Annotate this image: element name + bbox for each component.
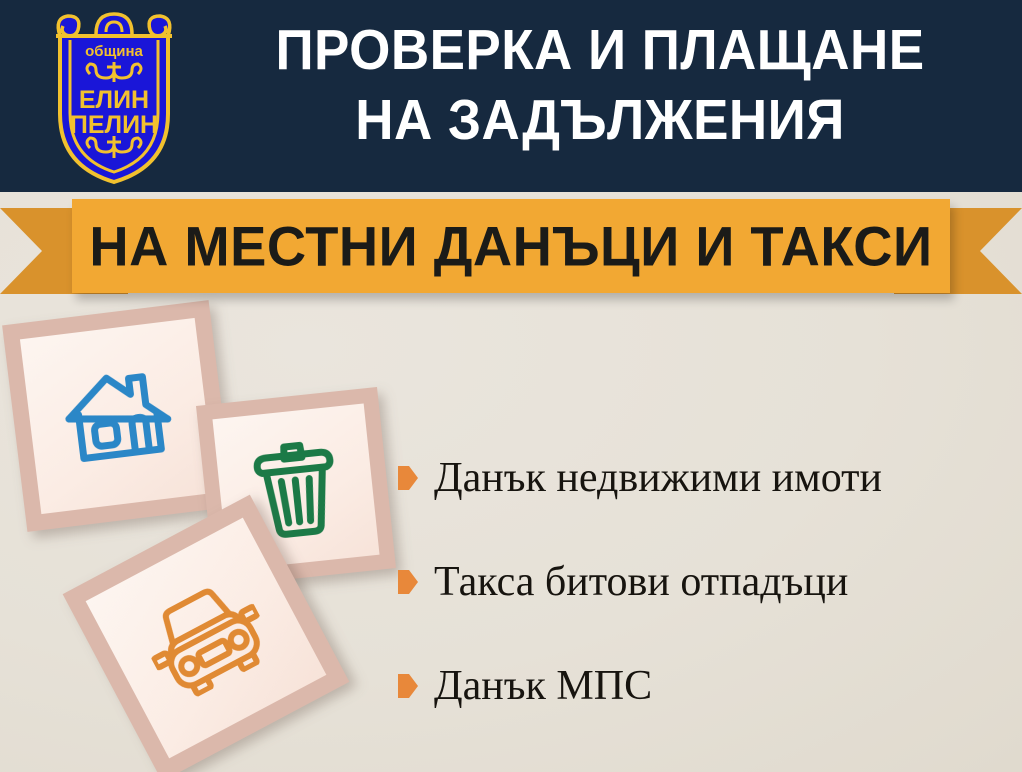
list-item-label: Данък МПС <box>434 665 652 707</box>
poster-root: ПРОВЕРКА И ПЛАЩАНЕ НА ЗАДЪЛЖЕНИЯ <box>0 0 1022 772</box>
emblem-text-pelin: ПЕЛИН <box>70 111 158 139</box>
list-item-label: Данък недвижими имоти <box>434 457 882 499</box>
municipality-emblem-icon: община ЕЛИН ПЕЛИН <box>34 6 194 186</box>
tax-type-list: Данък недвижими имоти Такса битови отпад… <box>398 426 1008 738</box>
list-item[interactable]: Такса битови отпадъци <box>398 530 1008 634</box>
emblem-text-elin: ЕЛИН <box>79 86 149 114</box>
bullet-arrow-icon <box>398 466 418 490</box>
house-icon <box>20 318 216 514</box>
list-item-label: Такса битови отпадъци <box>434 561 848 603</box>
ribbon-banner: НА МЕСТНИ ДАНЪЦИ И ТАКСИ <box>0 192 1022 304</box>
page-title: ПРОВЕРКА И ПЛАЩАНЕ НА ЗАДЪЛЖЕНИЯ <box>219 16 982 155</box>
ribbon-label: НА МЕСТНИ ДАНЪЦИ И ТАКСИ <box>85 214 937 279</box>
bullet-arrow-icon <box>398 570 418 594</box>
emblem-text-obshtina: община <box>85 43 143 60</box>
bullet-arrow-icon <box>398 674 418 698</box>
list-item[interactable]: Данък МПС <box>398 634 1008 738</box>
ribbon-banner-body: НА МЕСТНИ ДАНЪЦИ И ТАКСИ <box>72 199 950 293</box>
stamp-paper <box>20 318 216 514</box>
list-item[interactable]: Данък недвижими имоти <box>398 426 1008 530</box>
